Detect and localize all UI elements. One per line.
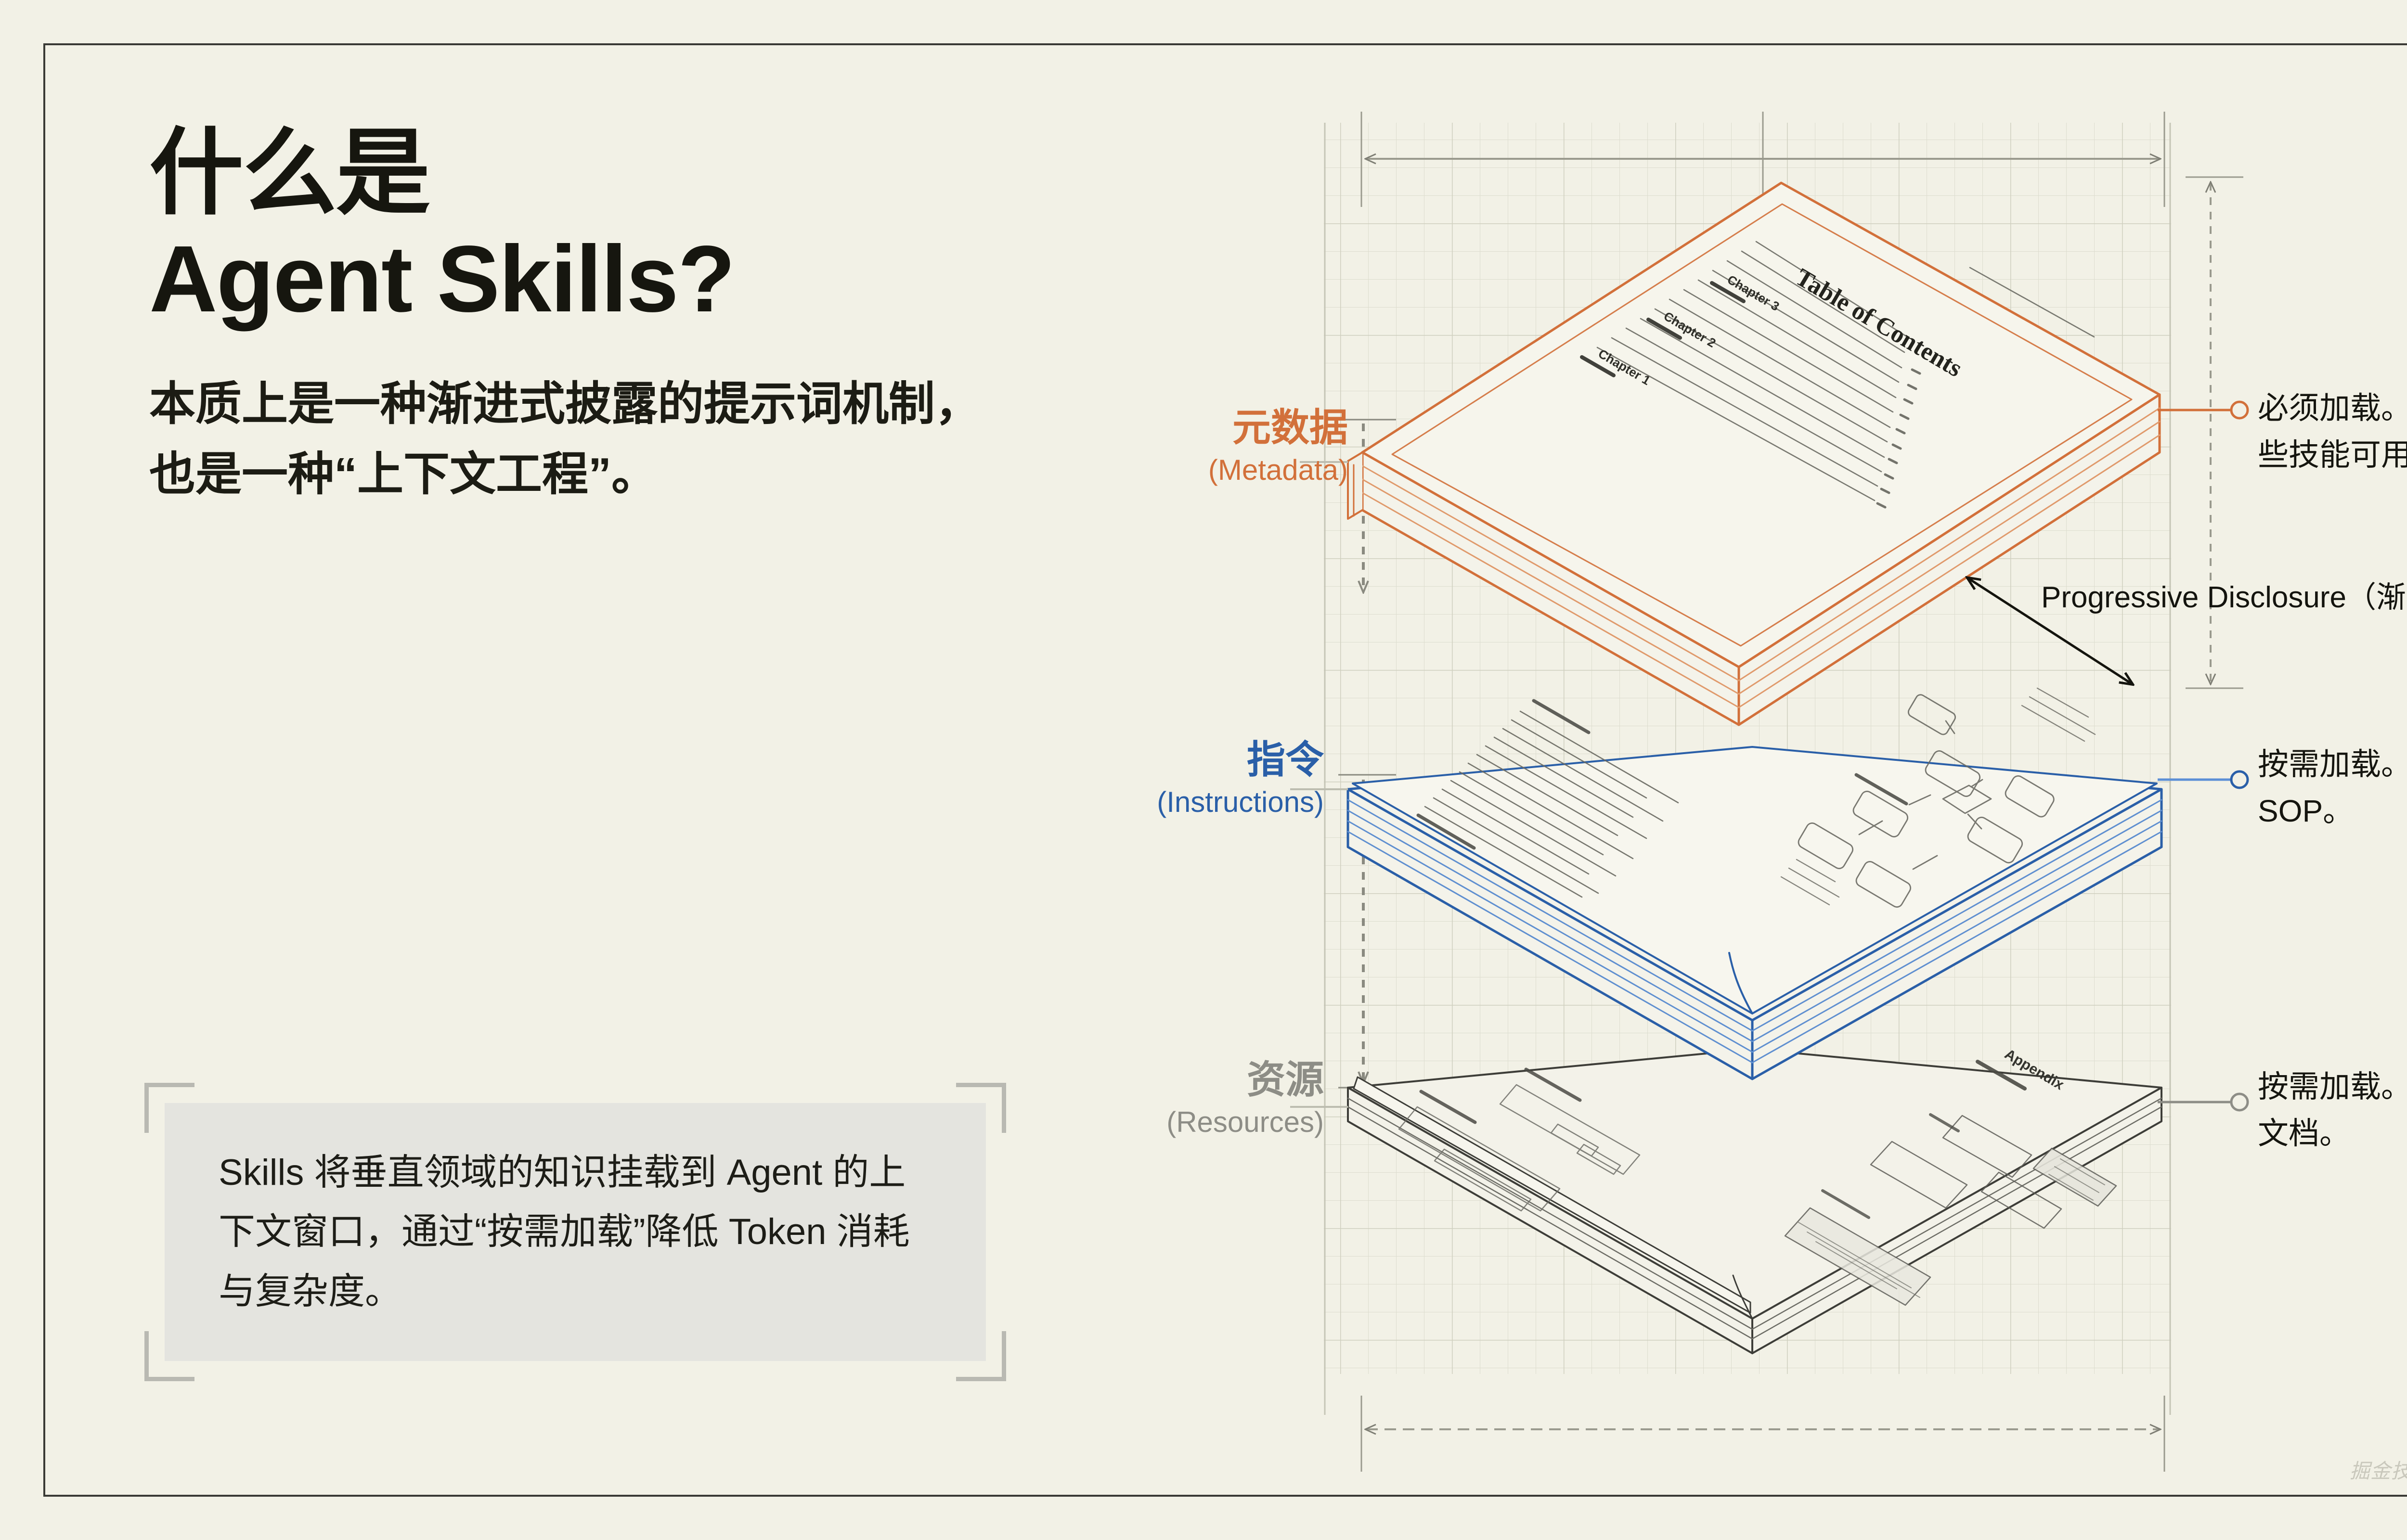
progressive-disclosure-label: Progressive Disclosure（渐进式披露） bbox=[2041, 573, 2407, 616]
leader-instructions bbox=[2158, 771, 2248, 788]
callout-body: Skills 将垂直领域的知识挂载到 Agent 的上下文窗口，通过“按需加载”… bbox=[165, 1103, 986, 1361]
annotation-instructions: 按需加载。具体的执行步骤和 SOP。 bbox=[2258, 741, 2407, 835]
annotation-metadata: 必须加载。让 Agent 知道有哪些技能可用。 bbox=[2258, 385, 2407, 479]
callout-text: Skills 将垂直领域的知识挂载到 Agent 的上下文窗口，通过“按需加载”… bbox=[165, 1143, 986, 1321]
source-watermark: 掘金技术社区 @KaneLogger bbox=[2350, 1455, 2407, 1484]
title-line-1: 什么是 bbox=[149, 120, 429, 226]
annotation-resources: 按需加载。模板、案例、规范文档。 bbox=[2258, 1064, 2407, 1157]
layer-label-resources-cn: 资源 bbox=[1025, 1059, 1324, 1101]
slide-root: Appendix bbox=[0, 0, 2407, 1540]
layer-label-instructions-cn: 指令 bbox=[1025, 739, 1324, 781]
headline-block: 什么是 Agent Skills? 本质上是一种渐进式披露的提示词机制，也是一种… bbox=[149, 120, 1064, 510]
leader-metadata bbox=[2158, 402, 2248, 418]
layer-label-resources-en: (Resources) bbox=[1025, 1101, 1324, 1143]
layer-label-metadata: 元数据 (Metadata) bbox=[1049, 407, 1348, 491]
layer-label-metadata-en: (Metadata) bbox=[1049, 449, 1348, 491]
dimension-bottom bbox=[1361, 1396, 2164, 1472]
page-subtitle: 本质上是一种渐进式披露的提示词机制，也是一种“上下文工程”。 bbox=[149, 369, 996, 510]
title-line-2: Agent Skills? bbox=[149, 226, 1064, 332]
layer-label-instructions-en: (Instructions) bbox=[1025, 781, 1324, 823]
leader-resources bbox=[2158, 1094, 2248, 1110]
layer-label-resources: 资源 (Resources) bbox=[1025, 1059, 1324, 1143]
page-title: 什么是 Agent Skills? bbox=[149, 120, 1064, 332]
layer-label-metadata-cn: 元数据 bbox=[1049, 407, 1348, 449]
layer-label-instructions: 指令 (Instructions) bbox=[1025, 739, 1324, 823]
summary-callout: Skills 将垂直领域的知识挂载到 Agent 的上下文窗口，通过“按需加载”… bbox=[144, 1083, 1006, 1381]
